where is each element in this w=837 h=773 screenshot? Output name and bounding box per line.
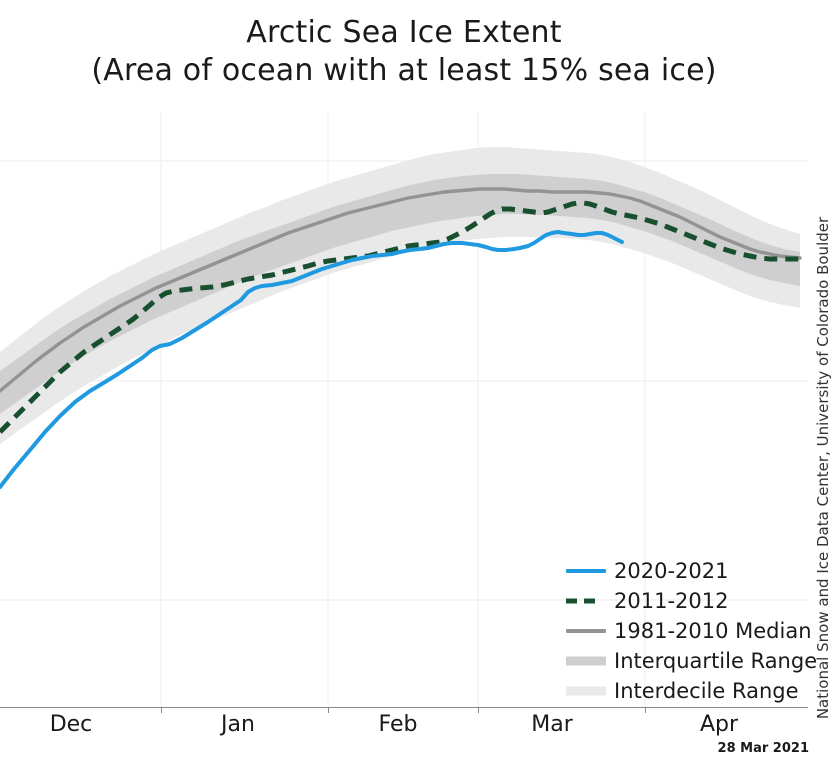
credit-label: National Snow and Ice Data Center, Unive… [811, 228, 835, 708]
legend-label: Interdecile Range [614, 679, 799, 703]
legend-swatch-icon [566, 653, 606, 669]
legend-item-1981-2010-median[interactable]: 1981-2010 Median [566, 616, 817, 646]
legend-swatch-icon [566, 623, 606, 639]
x-axis-label-feb: Feb [358, 712, 438, 737]
x-axis-tick [478, 707, 479, 713]
x-axis-label-apr: Apr [679, 712, 759, 737]
page-subtitle: (Area of ocean with at least 15% sea ice… [0, 52, 808, 90]
datestamp: 28 Mar 2021 [718, 741, 809, 756]
title-block: Arctic Sea Ice Extent (Area of ocean wit… [0, 14, 808, 90]
band-interquartile-range [0, 174, 800, 414]
legend-item-interdecile-range[interactable]: Interdecile Range [566, 676, 817, 706]
x-axis-line [0, 707, 808, 708]
range-bands [0, 147, 800, 444]
legend-swatch-icon [566, 593, 606, 609]
x-axis-tick [645, 707, 646, 713]
legend-label: 2011-2012 [614, 589, 728, 613]
x-axis-label-dec: Dec [31, 712, 111, 737]
legend-item-2020-2021[interactable]: 2020-2021 [566, 556, 817, 586]
credit-text: National Snow and Ice Data Center, Unive… [814, 217, 832, 719]
x-axis-tick [328, 707, 329, 713]
legend-item-interquartile-range[interactable]: Interquartile Range [566, 646, 817, 676]
page-title: Arctic Sea Ice Extent [0, 14, 808, 52]
chart-page: Arctic Sea Ice Extent (Area of ocean wit… [0, 0, 837, 773]
x-axis-label-mar: Mar [512, 712, 592, 737]
legend-label: 1981-2010 Median [614, 619, 812, 643]
legend-item-2011-2012[interactable]: 2011-2012 [566, 586, 817, 616]
legend-swatch-icon [566, 563, 606, 579]
x-axis-tick [161, 707, 162, 713]
legend-label: Interquartile Range [614, 649, 817, 673]
legend-swatch-icon [566, 683, 606, 699]
x-axis-label-jan: Jan [198, 712, 278, 737]
chart-legend: 2020-20212011-20121981-2010 MedianInterq… [566, 556, 817, 706]
legend-label: 2020-2021 [614, 559, 728, 583]
